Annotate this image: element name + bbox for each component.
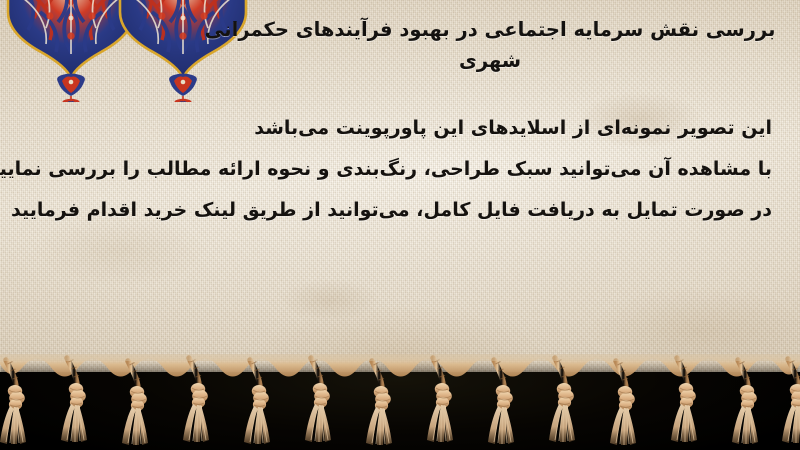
tassel-fringe-border <box>0 354 800 450</box>
body-line-2: با مشاهده آن می‌توانید سبک طراحی، رنگ‌بن… <box>12 149 772 190</box>
body-line-1: این تصویر نمونه‌ای از اسلایدهای این پاور… <box>12 108 772 149</box>
body-line-3: در صورت تمایل به دریافت فایل کامل، می‌تو… <box>12 190 772 231</box>
slide-title-line-1: بررسی نقش سرمایه اجتماعی در بهبود فرآیند… <box>200 14 780 45</box>
slide-title-line-2: شهری <box>200 45 780 76</box>
slide-title: بررسی نقش سرمایه اجتماعی در بهبود فرآیند… <box>200 14 780 76</box>
slide-body: این تصویر نمونه‌ای از اسلایدهای این پاور… <box>12 108 772 231</box>
persian-medallion-ornament-left <box>6 0 136 102</box>
presentation-slide: بررسی نقش سرمایه اجتماعی در بهبود فرآیند… <box>0 0 800 450</box>
